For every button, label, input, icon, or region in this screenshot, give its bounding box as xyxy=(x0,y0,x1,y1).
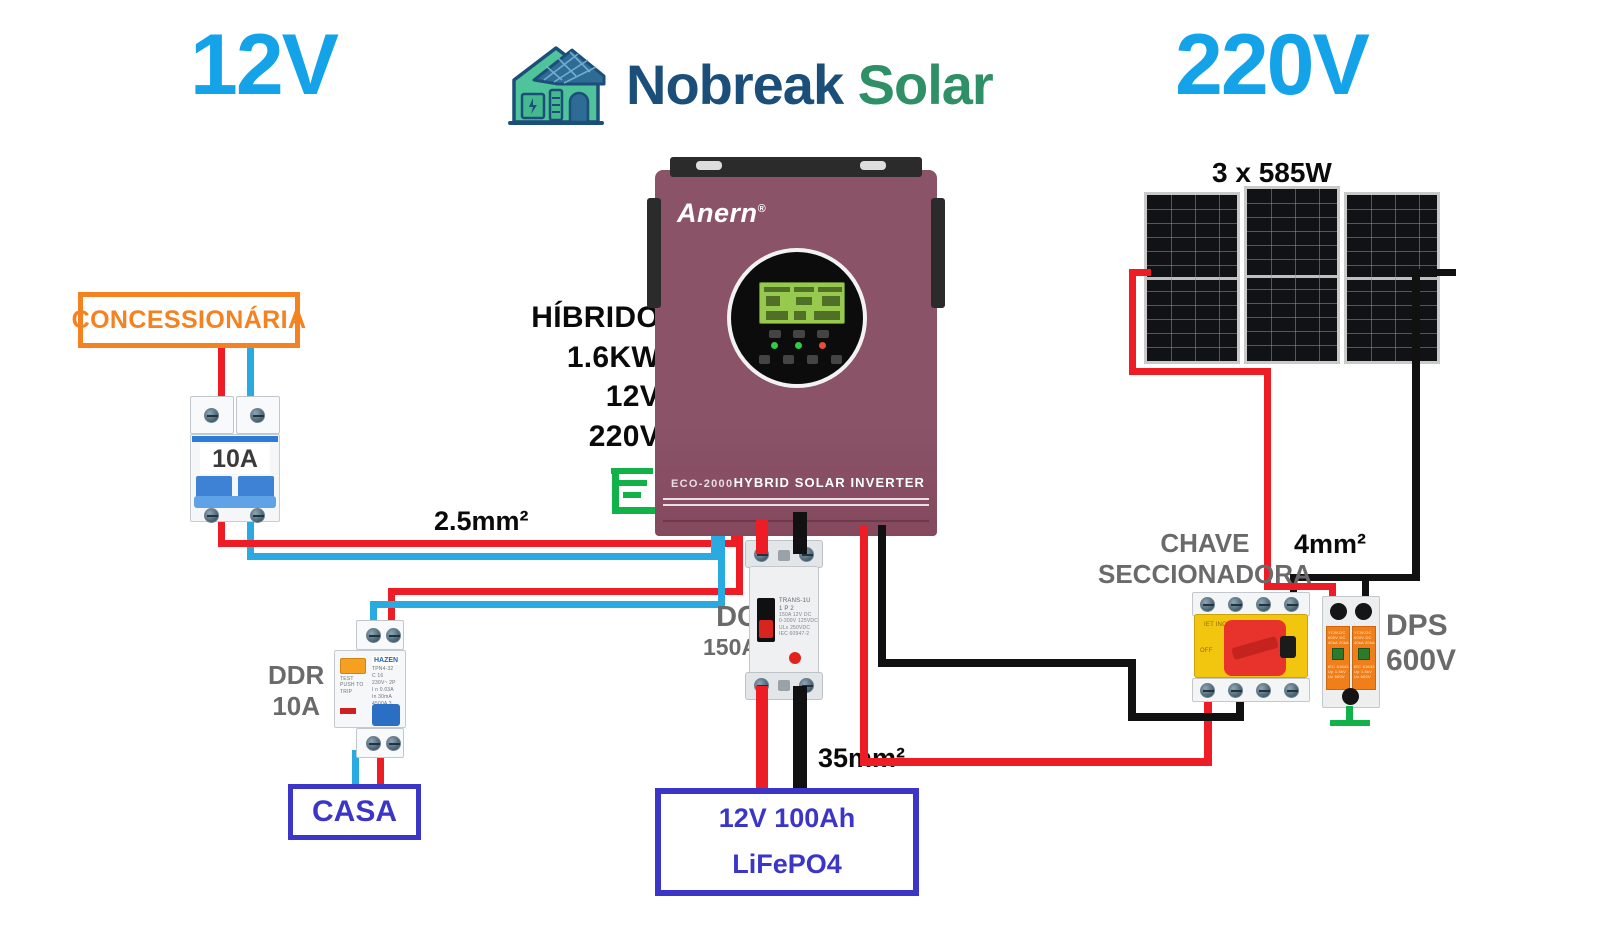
brand-logo: Nobreak Solar xyxy=(500,36,993,133)
ddr-curve: C 16 xyxy=(372,673,383,679)
inverter-status-icon-2 xyxy=(793,330,805,338)
surge-protector-dps[interactable]: YCW-DC600V DC40kA 20kA YCW-DC600V DC40kA… xyxy=(1322,596,1380,708)
hybrid-inverter[interactable]: Anern® ECO-200 xyxy=(655,170,937,536)
inverter-button-enter[interactable] xyxy=(831,355,842,364)
left-voltage-label: 12V xyxy=(190,22,337,108)
wire-pv-panel-black-drop xyxy=(1412,269,1420,581)
inverter-spec-line-0: HÍBRIDO xyxy=(500,298,660,338)
dps-terminal-screw xyxy=(1355,603,1372,620)
wire-ac-red-run xyxy=(218,540,738,547)
dps-ground-terminal xyxy=(1342,688,1359,705)
dps-status-window-1 xyxy=(1332,648,1344,660)
spd-label-line2: 600V xyxy=(1386,643,1456,678)
wire-batt-black-bottom xyxy=(793,686,807,791)
wire-batt-red-bottom xyxy=(756,686,768,791)
ddr-spec-2: I n 0.03A xyxy=(372,687,394,693)
dc-breaker-handle[interactable] xyxy=(759,620,773,638)
ground-symbol-bar2 xyxy=(617,480,647,486)
dc-disconnect-switch[interactable]: IET INC 17A OFF LOCK xyxy=(1192,592,1310,702)
battery-line-2: LiFePO4 xyxy=(732,850,842,880)
wire-pv-black-riser-switch xyxy=(1236,700,1244,721)
breaker-screw xyxy=(250,408,265,423)
wiring-diagram-canvas: 12V 220V xyxy=(0,0,1600,940)
ddr-test-text: TEST PUSH TO TRIP xyxy=(340,676,366,695)
breaker-screw xyxy=(204,408,219,423)
inverter-wall-bracket xyxy=(670,157,922,177)
wire-pv-panel-black-run xyxy=(1412,269,1456,276)
wire-pv-red-run-bottom xyxy=(860,758,1212,766)
wire-acout-red-run xyxy=(388,588,743,595)
wire-pv-black-inv-drop xyxy=(878,525,886,665)
rcd-ddr-device[interactable]: TEST PUSH TO TRIP HAZEN TPN4-32 C 16 230… xyxy=(334,620,406,758)
switch-screw xyxy=(1228,597,1243,612)
wire-pv-panel-red-run xyxy=(1129,368,1271,375)
dps-ground-symbol xyxy=(1330,720,1370,726)
wire-pv-black-drop xyxy=(1128,659,1136,721)
ddr-rating: 10A xyxy=(268,691,324,722)
wire-batt-black-top xyxy=(793,512,807,554)
inverter-button-esc[interactable] xyxy=(807,355,818,364)
inverter-display-ring xyxy=(727,248,867,388)
inverter-button-up[interactable] xyxy=(759,355,770,364)
utility-box: CONCESSIONÁRIA xyxy=(78,292,300,348)
wire-acout-blue-run xyxy=(370,601,725,608)
inverter-spec-line-3: 220V xyxy=(500,417,660,457)
house-box: CASA xyxy=(288,784,421,840)
ddr-screw xyxy=(366,628,381,643)
wire-pv-red-inv-drop xyxy=(860,525,868,685)
ddr-model: TPN4-32 xyxy=(372,666,393,672)
inverter-led-green xyxy=(771,342,778,349)
main-breaker-10a[interactable]: 10A xyxy=(190,396,282,522)
inverter-heatsink-left xyxy=(647,198,661,308)
wire-pv-red-riser-switch xyxy=(1204,700,1212,766)
switch-screw xyxy=(1284,683,1299,698)
spd-label-group: DPS 600V xyxy=(1386,608,1456,679)
switch-screw xyxy=(1228,683,1243,698)
inverter-lcd-screen xyxy=(759,282,845,324)
switch-knob-lever[interactable] xyxy=(1280,636,1296,658)
solar-panel-1 xyxy=(1144,192,1240,364)
wire-ac-blue-run xyxy=(247,553,717,560)
inverter-spec-line-1: 1.6KW xyxy=(500,338,660,378)
ddr-label: DDR xyxy=(268,660,324,691)
inverter-type-label: HYBRID SOLAR INVERTER xyxy=(734,475,925,490)
ddr-screw xyxy=(386,736,401,751)
wire-pv-panel-red-drop xyxy=(1129,269,1136,375)
brand-name-part1: Nobreak xyxy=(626,53,843,116)
inverter-led-green-2 xyxy=(795,342,802,349)
brand-name-part2: Solar xyxy=(858,53,993,116)
dps-status-window-2 xyxy=(1358,648,1370,660)
inverter-heatsink-right xyxy=(931,198,945,308)
breaker-toggle[interactable] xyxy=(194,496,276,508)
switch-screw xyxy=(1200,683,1215,698)
disconnect-label-line1: CHAVE xyxy=(1098,528,1312,559)
breaker-rating-label: 10A xyxy=(212,445,258,474)
switch-screw xyxy=(1200,597,1215,612)
wire-utility-red-drop xyxy=(218,342,225,404)
ddr-label-group: DDR 10A xyxy=(268,660,324,721)
breaker-screw xyxy=(250,508,265,523)
inverter-spec-block: HÍBRIDO 1.6KW 12V 220V xyxy=(500,298,660,456)
ddr-toggle[interactable] xyxy=(372,704,400,726)
panel-power-label: 3 x 585W xyxy=(1212,157,1332,189)
wire-pv-black-run xyxy=(878,659,1136,667)
wire-batt-red-top xyxy=(756,520,768,554)
switch-screw xyxy=(1256,597,1271,612)
disconnect-label-group: CHAVE SECCIONADORA xyxy=(1098,528,1312,589)
inverter-model-label: ECO-2000 xyxy=(671,478,733,490)
battery-box: 12V 100Ah LiFePO4 xyxy=(655,788,919,896)
dc-breaker-150a[interactable]: TRANS-1U1 P 2 150A 12V DC0-300V 125VDCUL… xyxy=(745,540,823,700)
battery-line-1: 12V 100Ah xyxy=(719,804,856,834)
utility-label: CONCESSIONÁRIA xyxy=(72,306,307,335)
wire-utility-blue-drop xyxy=(247,342,254,404)
breaker-screw xyxy=(204,508,219,523)
wire-pv-black-run2 xyxy=(1128,713,1244,721)
ddr-screw xyxy=(366,736,381,751)
inverter-brand-logo: Anern® xyxy=(677,198,766,229)
switch-screw xyxy=(1284,597,1299,612)
ddr-screw xyxy=(386,628,401,643)
dps-terminal-screw xyxy=(1330,603,1347,620)
solar-panel-2 xyxy=(1244,186,1340,364)
inverter-status-icon-3 xyxy=(817,330,829,338)
wire-pv-red-drop2 xyxy=(860,678,868,766)
ddr-spec-3: In 30mA xyxy=(372,694,392,700)
brand-name: Nobreak Solar xyxy=(626,52,993,117)
inverter-status-icon-1 xyxy=(769,330,781,338)
ground-symbol-bar3 xyxy=(623,492,641,498)
spd-label-line1: DPS xyxy=(1386,608,1456,643)
inverter-led-red xyxy=(819,342,826,349)
house-solar-panel-icon xyxy=(500,36,612,133)
cable-gauge-ac-label: 2.5mm² xyxy=(434,505,529,539)
solar-panel-3 xyxy=(1344,192,1440,364)
right-voltage-label: 220V xyxy=(1175,22,1368,108)
inverter-spec-line-2: 12V xyxy=(500,377,660,417)
disconnect-label-line2: SECCIONADORA xyxy=(1098,559,1312,590)
switch-rotary-knob[interactable] xyxy=(1224,620,1286,676)
inverter-brand-text: Anern xyxy=(677,198,758,228)
house-label: CASA xyxy=(312,795,397,829)
ddr-spec-1: 230V~ 2P xyxy=(372,680,396,686)
ddr-test-button[interactable] xyxy=(340,658,366,674)
switch-screw xyxy=(1256,683,1271,698)
ddr-indicator xyxy=(340,708,356,714)
ground-symbol-bar1 xyxy=(611,468,653,474)
dc-breaker-indicator xyxy=(789,652,801,664)
inverter-button-down[interactable] xyxy=(783,355,794,364)
